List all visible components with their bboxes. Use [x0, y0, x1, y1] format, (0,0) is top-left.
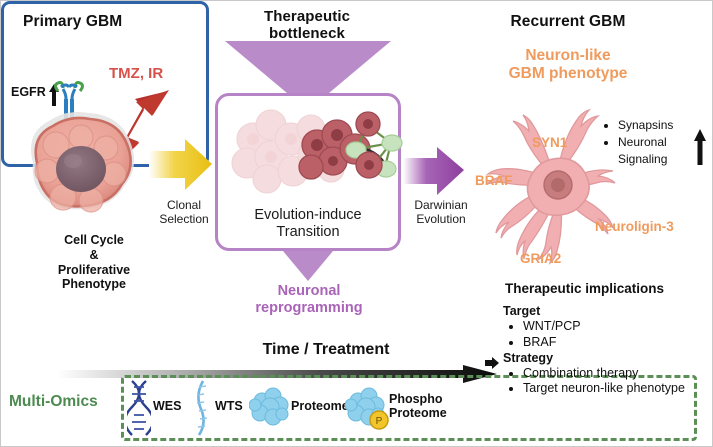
neuron-like-line-1: Neuron-like	[453, 47, 683, 65]
target-list: WNT/PCP BRAF	[503, 319, 703, 350]
section-label-target: Target	[503, 304, 703, 319]
neuronal-repro-line-1: Neuronal	[229, 283, 389, 300]
strategy-item-combination-therapy: Combination therapy	[523, 366, 703, 381]
gene-label-gria2: GRIA2	[520, 251, 561, 266]
strategy-list: Combination therapy Target neuron-like p…	[503, 366, 703, 397]
funnel-icon	[225, 41, 391, 93]
clonal-selection-label: Clonal Selection	[151, 199, 217, 227]
dna-helix-icon	[127, 379, 151, 437]
clonal-line-2: Selection	[151, 213, 217, 227]
feature-item-neuronal-signaling: Neuronal Signaling	[618, 134, 689, 168]
omics-label-phospho-proteome: Phospho Proteome	[389, 392, 447, 421]
neuronal-repro-line-2: reprogramming	[229, 300, 389, 317]
phospho-protein-icon: P	[345, 387, 391, 431]
caption-line-1: Cell Cycle	[19, 233, 169, 248]
protein-blob-icon	[249, 387, 291, 427]
gene-label-neuroligin-3: Neuroligin-3	[595, 219, 674, 234]
tmz-ir-label: TMZ, IR	[109, 65, 219, 82]
bottleneck-label-line-1: Evolution-induce	[217, 207, 399, 224]
phospho-badge-p: P	[376, 416, 383, 427]
feature-line-neuronal: Neuronal	[618, 135, 667, 149]
caption-line-4: Phenotype	[19, 277, 169, 292]
rna-strand-icon	[191, 379, 211, 437]
neuron-network-icon	[345, 109, 403, 193]
tumor-cell-icon	[11, 101, 151, 231]
neuron-like-line-2: GBM phenotype	[453, 65, 683, 83]
omics-label-proteome: Proteome	[291, 399, 349, 413]
feature-line-signaling: Signaling	[618, 152, 667, 166]
clonal-line-1: Clonal	[151, 199, 217, 213]
recurrent-feature-list: Synapsins Neuronal Signaling	[605, 117, 689, 168]
therapeutic-implications-body: Target WNT/PCP BRAF Strategy Combination…	[503, 303, 703, 397]
therapeutic-implications-heading: Therapeutic implications	[505, 281, 701, 296]
primary-cell-caption: Cell Cycle & Proliferative Phenotype	[19, 233, 169, 292]
phospho-line-2: Proteome	[389, 406, 447, 420]
down-triangle-icon	[283, 251, 333, 281]
gene-label-braf: BRAF	[475, 173, 513, 188]
bottleneck-title-line-1: Therapeutic	[217, 9, 397, 26]
yellow-right-arrow-icon	[149, 137, 213, 193]
section-label-strategy: Strategy	[503, 351, 703, 366]
bottleneck-box-label: Evolution-induce Transition	[217, 207, 399, 241]
bottleneck-label-line-2: Transition	[217, 224, 399, 241]
omics-label-wts: WTS	[215, 399, 243, 413]
figure-canvas: Primary GBM EGFR TMZ, IR	[0, 0, 713, 447]
caption-line-3: Proliferative	[19, 263, 169, 278]
egfr-label: EGFR	[11, 85, 46, 99]
right-arrow-icon	[485, 357, 499, 369]
feature-item-synapsins: Synapsins	[618, 117, 689, 134]
omics-label-wes: WES	[153, 399, 181, 413]
purple-right-arrow-icon	[403, 145, 465, 197]
up-arrow-icon	[693, 129, 707, 165]
phospho-line-1: Phospho	[389, 392, 447, 406]
caption-line-2: &	[19, 248, 169, 263]
panel-title-bottleneck: Therapeutic bottleneck	[217, 9, 397, 43]
target-item-braf: BRAF	[523, 335, 703, 350]
time-treatment-label: Time / Treatment	[161, 341, 491, 359]
neuron-like-phenotype-label: Neuron-like GBM phenotype	[453, 47, 683, 82]
panel-title-recurrent-gbm: Recurrent GBM	[453, 13, 683, 31]
target-item-wnt-pcp: WNT/PCP	[523, 319, 703, 334]
panel-title-primary-gbm: Primary GBM	[23, 13, 193, 31]
neuronal-reprogramming-label: Neuronal reprogramming	[229, 283, 389, 316]
multi-omics-label: Multi-Omics	[9, 393, 98, 411]
strategy-item-target-neuron-like-phenotype: Target neuron-like phenotype	[523, 381, 703, 396]
gene-label-syn1: SYN1	[532, 135, 567, 150]
